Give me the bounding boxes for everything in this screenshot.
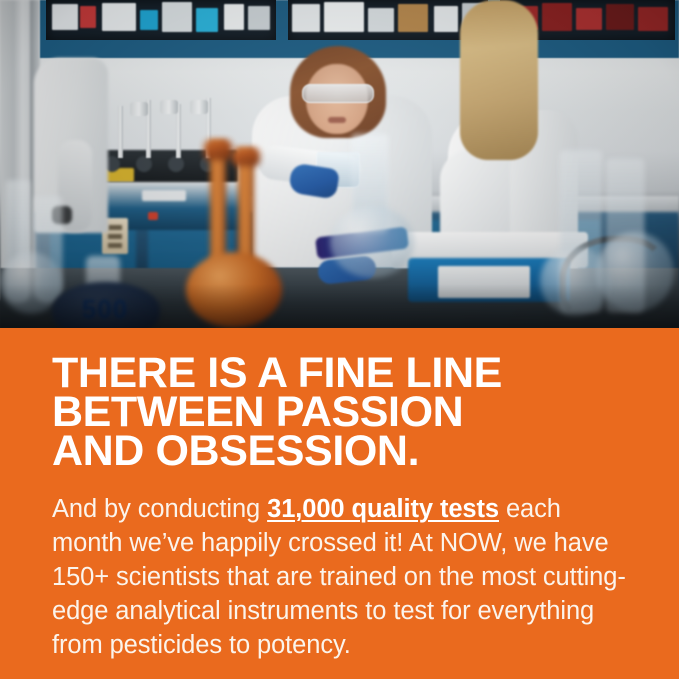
amber-flask-rim (232, 148, 260, 166)
stand-clamp (130, 102, 148, 116)
stand-rod (118, 106, 123, 158)
orange-text-panel: THERE IS A FINE LINE BETWEEN PASSION AND… (0, 328, 679, 679)
promo-banner: 500 THERE IS A FINE LINE BETWEEN PASSION… (0, 0, 679, 679)
scientist-right-hair (460, 0, 538, 160)
body-segment-1: And by conducting (52, 495, 267, 523)
scientist-center-mouth (328, 117, 346, 123)
instrument-indicator-light (148, 212, 158, 220)
headline-line-3: AND OBSESSION. (52, 432, 627, 471)
stand-clamp (160, 100, 178, 114)
instrument-display (142, 190, 186, 201)
amber-flask-rim (204, 140, 232, 160)
overhead-cabinet-bay-center (288, 0, 488, 40)
foreground-round-flask (540, 246, 610, 316)
page-title: THERE IS A FINE LINE BETWEEN PASSION AND… (52, 328, 627, 471)
lab-photo: 500 (0, 0, 679, 328)
stand-clamp (190, 100, 208, 114)
flask-volume-label: 500 (62, 294, 148, 324)
amber-flask-bulb (186, 252, 282, 328)
overhead-cabinet-bay-left (46, 0, 276, 40)
instrument-knob (168, 156, 184, 172)
safety-goggles-icon (302, 84, 374, 103)
erlenmeyer-flask (330, 206, 414, 278)
body-copy: And by conducting 31,000 quality tests e… (52, 471, 627, 662)
stat-quality-tests: 31,000 quality tests (267, 495, 499, 523)
instrument-knob (136, 156, 152, 172)
stirrer-control-panel (438, 266, 530, 298)
